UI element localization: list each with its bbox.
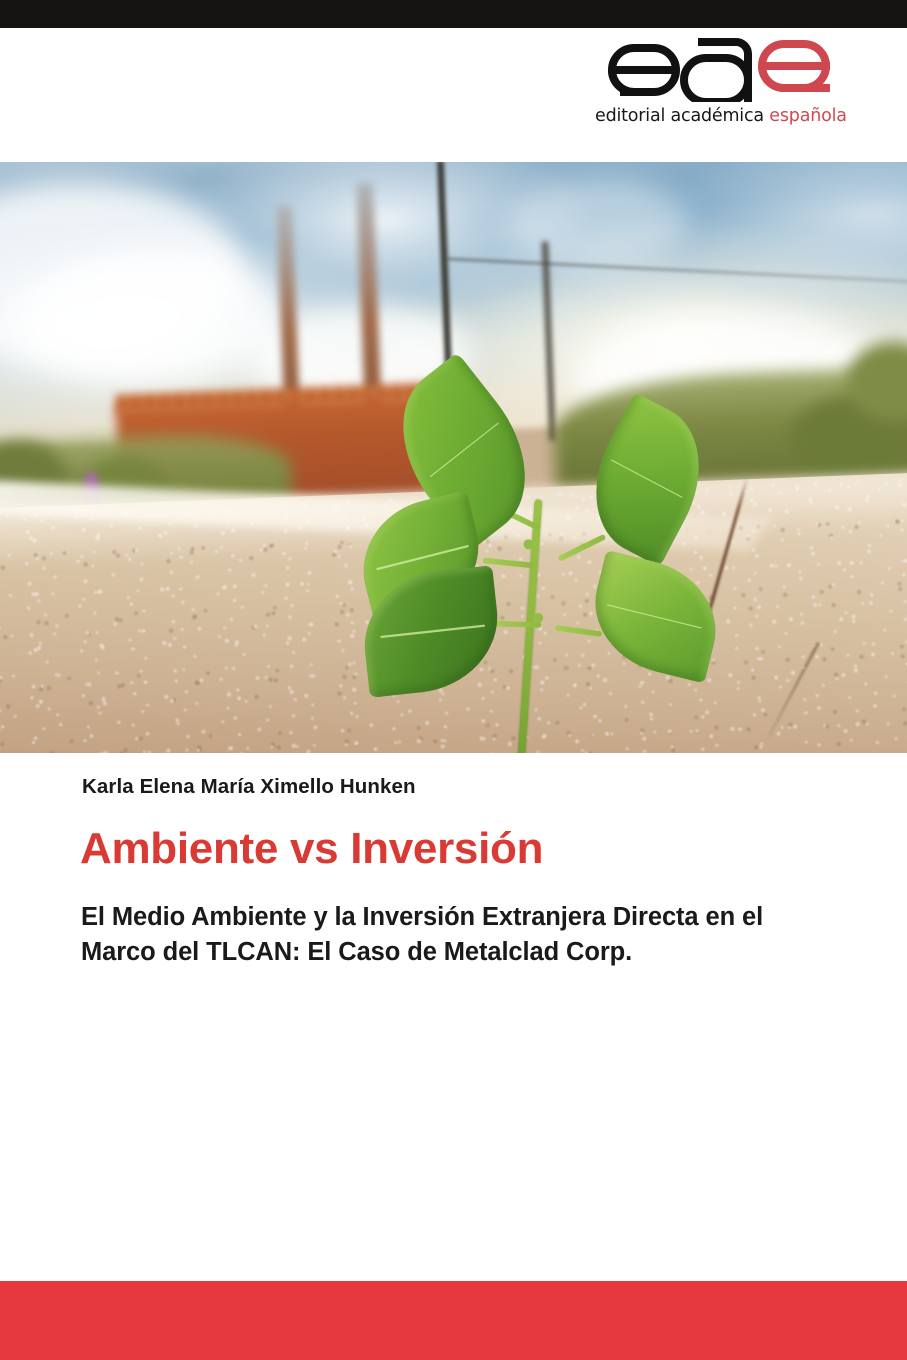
- publisher-logo: editorial académica española: [592, 36, 892, 144]
- publisher-wordmark-black: editorial académica: [595, 106, 764, 126]
- leaf-vein: [430, 423, 500, 478]
- leaf-vein: [611, 459, 683, 498]
- eae-logo-icon: [598, 36, 840, 102]
- leaf-vein: [380, 624, 485, 637]
- leaf-stalk: [558, 534, 607, 562]
- book-title: Ambiente vs Inversión: [80, 825, 860, 873]
- leaf-stalk: [555, 625, 602, 637]
- seedling: [410, 362, 893, 753]
- book-cover: editorial académica española: [0, 0, 907, 1360]
- leaf-stalk: [494, 621, 541, 628]
- publisher-wordmark-red: española: [769, 106, 847, 126]
- publisher-wordmark: editorial académica española: [595, 106, 847, 126]
- book-subtitle: El Medio Ambiente y la Inversión Extranj…: [81, 900, 821, 970]
- author-name: Karla Elena María Ximello Hunken: [82, 775, 416, 799]
- leaf-vein: [376, 545, 468, 570]
- bottom-red-band: [0, 1281, 907, 1360]
- cover-photo: [0, 162, 907, 753]
- leaf: [581, 550, 729, 684]
- cover-photo-scene: [0, 162, 907, 753]
- top-black-bar: [0, 0, 907, 28]
- leaf-vein: [606, 604, 702, 629]
